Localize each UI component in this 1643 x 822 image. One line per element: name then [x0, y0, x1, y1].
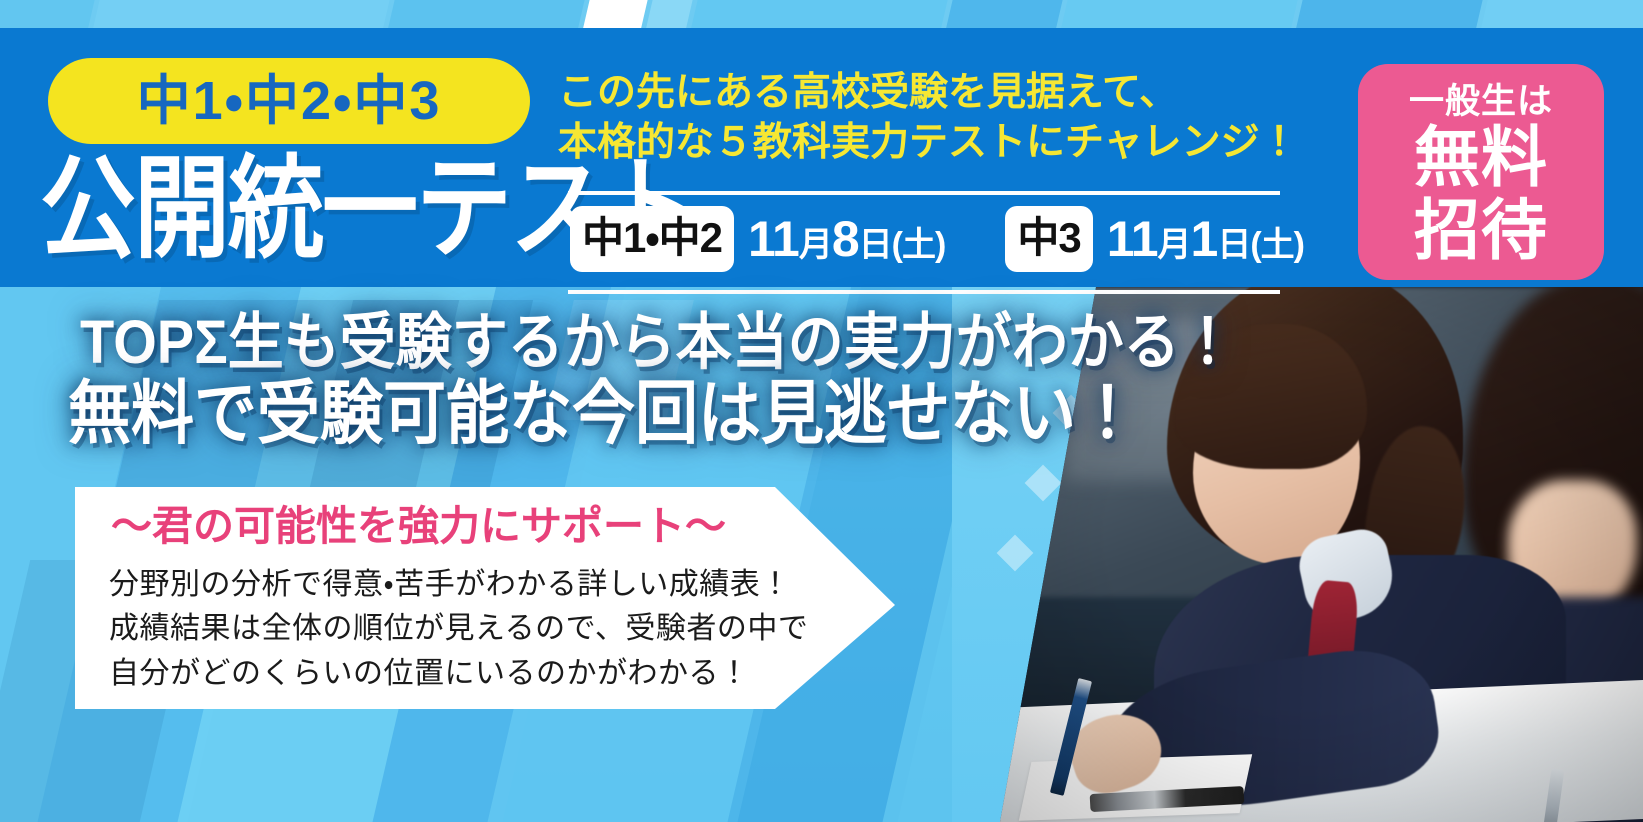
info-box-body: 分野別の分析で得意・苦手がわかる詳しい成績表！ 成績結果は全体の順位が見えるので…	[109, 563, 808, 696]
free-invitation-badge: 一般生は 無料 招待	[1358, 64, 1604, 280]
exam-date-1: 11月8日(土)	[748, 214, 945, 264]
headline-secondary: 無料で受験可能な今回は見逃せない！	[68, 378, 1000, 451]
exam-date-1-month-number: 11	[748, 211, 799, 267]
header-bar: 中1・中2・中3 公開統一テスト この先にある高校受験を見据えて、 本格的な５教…	[0, 28, 1643, 287]
top-decorative-strip	[0, 0, 1643, 30]
headline-primary: TOPΣ生も受験するから本当の実力がわかる！	[80, 309, 1000, 374]
free-badge-line-1: 無料	[1414, 124, 1548, 191]
free-badge-small-label: 一般生は	[1409, 84, 1553, 119]
divider-bottom	[568, 290, 1280, 294]
grade-pill-label: 中1・中2・中3	[137, 74, 442, 128]
exam-date-2-day-unit: 日(土)	[1217, 226, 1304, 264]
grade-tag-junior-3: 中3	[1005, 206, 1092, 272]
info-box-line: 成績結果は全体の順位が見えるので、受験者の中で	[109, 607, 808, 651]
info-box: 〜君の可能性を強力にサポート〜 分野別の分析で得意・苦手がわかる詳しい成績表！ …	[75, 487, 895, 709]
promo-banner: 中1・中2・中3 公開統一テスト この先にある高校受験を見据えて、 本格的な５教…	[0, 0, 1643, 822]
exam-date-row: 中1・中2 11月8日(土) 中3 11月1日(土)	[570, 206, 1304, 272]
info-box-heading: 〜君の可能性を強力にサポート〜	[111, 506, 726, 547]
top-strip-band	[1054, 0, 1302, 30]
exam-date-2-month-number: 11	[1107, 211, 1158, 267]
top-strip-band	[939, 0, 1067, 30]
lead-copy-line-1: この先にある高校受験を見据えて、	[558, 68, 1299, 118]
exam-date-group-2: 中3 11月1日(土)	[1005, 206, 1304, 272]
exam-date-group-1: 中1・中2 11月8日(土)	[570, 206, 945, 272]
free-badge-line-2: 招待	[1414, 197, 1548, 264]
exam-date-1-day-unit: 日(土)	[859, 226, 946, 264]
headline-block: TOPΣ生も受験するから本当の実力がわかる！ 無料で受験可能な今回は見逃せない！	[0, 312, 1000, 448]
top-strip-band	[0, 0, 99, 30]
divider-top	[568, 191, 1280, 195]
exam-date-1-month-unit: 月	[799, 226, 832, 264]
exam-date-2-day-number: 1	[1191, 211, 1218, 267]
top-strip-band	[86, 0, 394, 30]
exam-date-2-month-unit: 月	[1158, 226, 1191, 264]
exam-date-2: 11月1日(土)	[1107, 214, 1304, 264]
lead-copy: この先にある高校受験を見据えて、 本格的な５教科実力テストにチャレンジ！	[558, 68, 1299, 168]
top-strip-band	[1474, 0, 1643, 30]
info-box-line: 分野別の分析で得意・苦手がわかる詳しい成績表！	[109, 563, 808, 607]
top-strip-band	[684, 0, 952, 30]
exam-date-1-day-number: 8	[832, 211, 859, 267]
top-strip-band	[381, 0, 589, 30]
top-strip-band	[639, 0, 697, 30]
grade-tag-junior-1-2: 中1・中2	[570, 206, 734, 272]
lead-copy-line-2: 本格的な５教科実力テストにチャレンジ！	[558, 118, 1299, 168]
info-box-line: 自分がどのくらいの位置にいるのかがわかる！	[109, 652, 808, 696]
grade-pill-badge: 中1・中2・中3	[48, 58, 530, 144]
top-strip-band	[1289, 0, 1487, 30]
top-strip-band	[576, 0, 652, 30]
